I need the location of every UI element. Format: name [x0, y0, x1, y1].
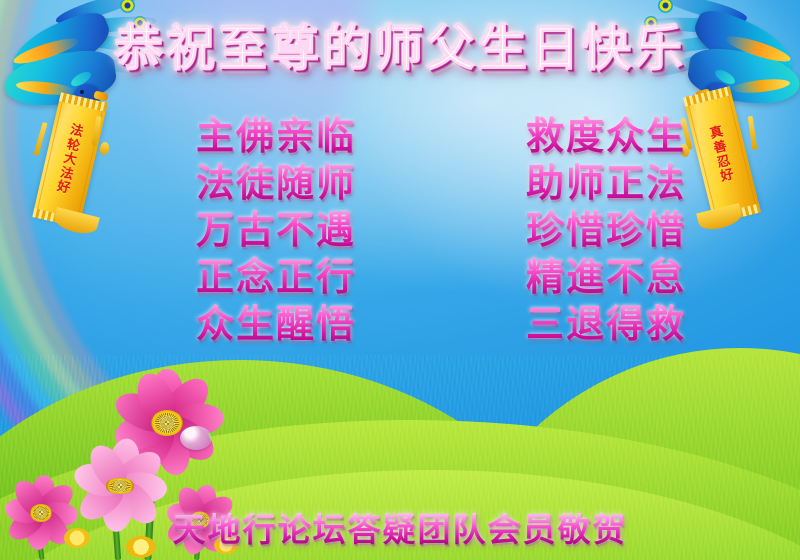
scroll-banner-left-text: 法 轮 大 法 好: [33, 96, 107, 224]
scroll-banner-right-text: 真 善 忍 好: [684, 90, 760, 220]
verse-left: 法徒随师: [196, 164, 356, 202]
verse-line: 法徒随师 助师正法: [196, 159, 686, 206]
signature-text: 天地行论坛答疑团队会员敬贺: [0, 513, 800, 546]
verse-left: 正念正行: [196, 258, 356, 296]
verse-left: 众生醒悟: [196, 305, 356, 343]
verse-right: 三退得救: [526, 305, 686, 343]
verse-left: 主佛亲临: [196, 117, 356, 155]
peacock-eye-icon: [120, 0, 135, 13]
dew-drop: [180, 426, 212, 450]
verse-right: 珍惜珍惜: [526, 211, 686, 249]
flower-center: [106, 478, 134, 494]
page-title: 恭祝至尊的师父生日快乐: [0, 24, 800, 73]
scroll-char: 好: [56, 180, 72, 196]
verse-right: 助师正法: [526, 164, 686, 202]
scroll-banner-right: 真 善 忍 好: [684, 90, 760, 220]
verse-right: 精進不怠: [526, 258, 686, 296]
verse-line: 正念正行 精進不怠: [196, 253, 686, 300]
verse-block: 主佛亲临 救度众生 法徒随师 助师正法 万古不遇 珍惜珍惜 正念正行 精進不怠 …: [196, 112, 686, 347]
verse-line: 主佛亲临 救度众生: [196, 112, 686, 159]
verse-left: 万古不遇: [196, 211, 356, 249]
verse-line: 众生醒悟 三退得救: [196, 300, 686, 347]
scroll-banner-left: 法 轮 大 法 好: [33, 96, 107, 224]
verse-line: 万古不遇 珍惜珍惜: [196, 206, 686, 253]
greeting-card: 法 轮 大 法 好: [0, 0, 800, 560]
verse-right: 救度众生: [526, 117, 686, 155]
flower-center: [151, 410, 183, 436]
scroll-char: 好: [719, 168, 735, 184]
peacock-eye-icon: [658, 0, 673, 13]
